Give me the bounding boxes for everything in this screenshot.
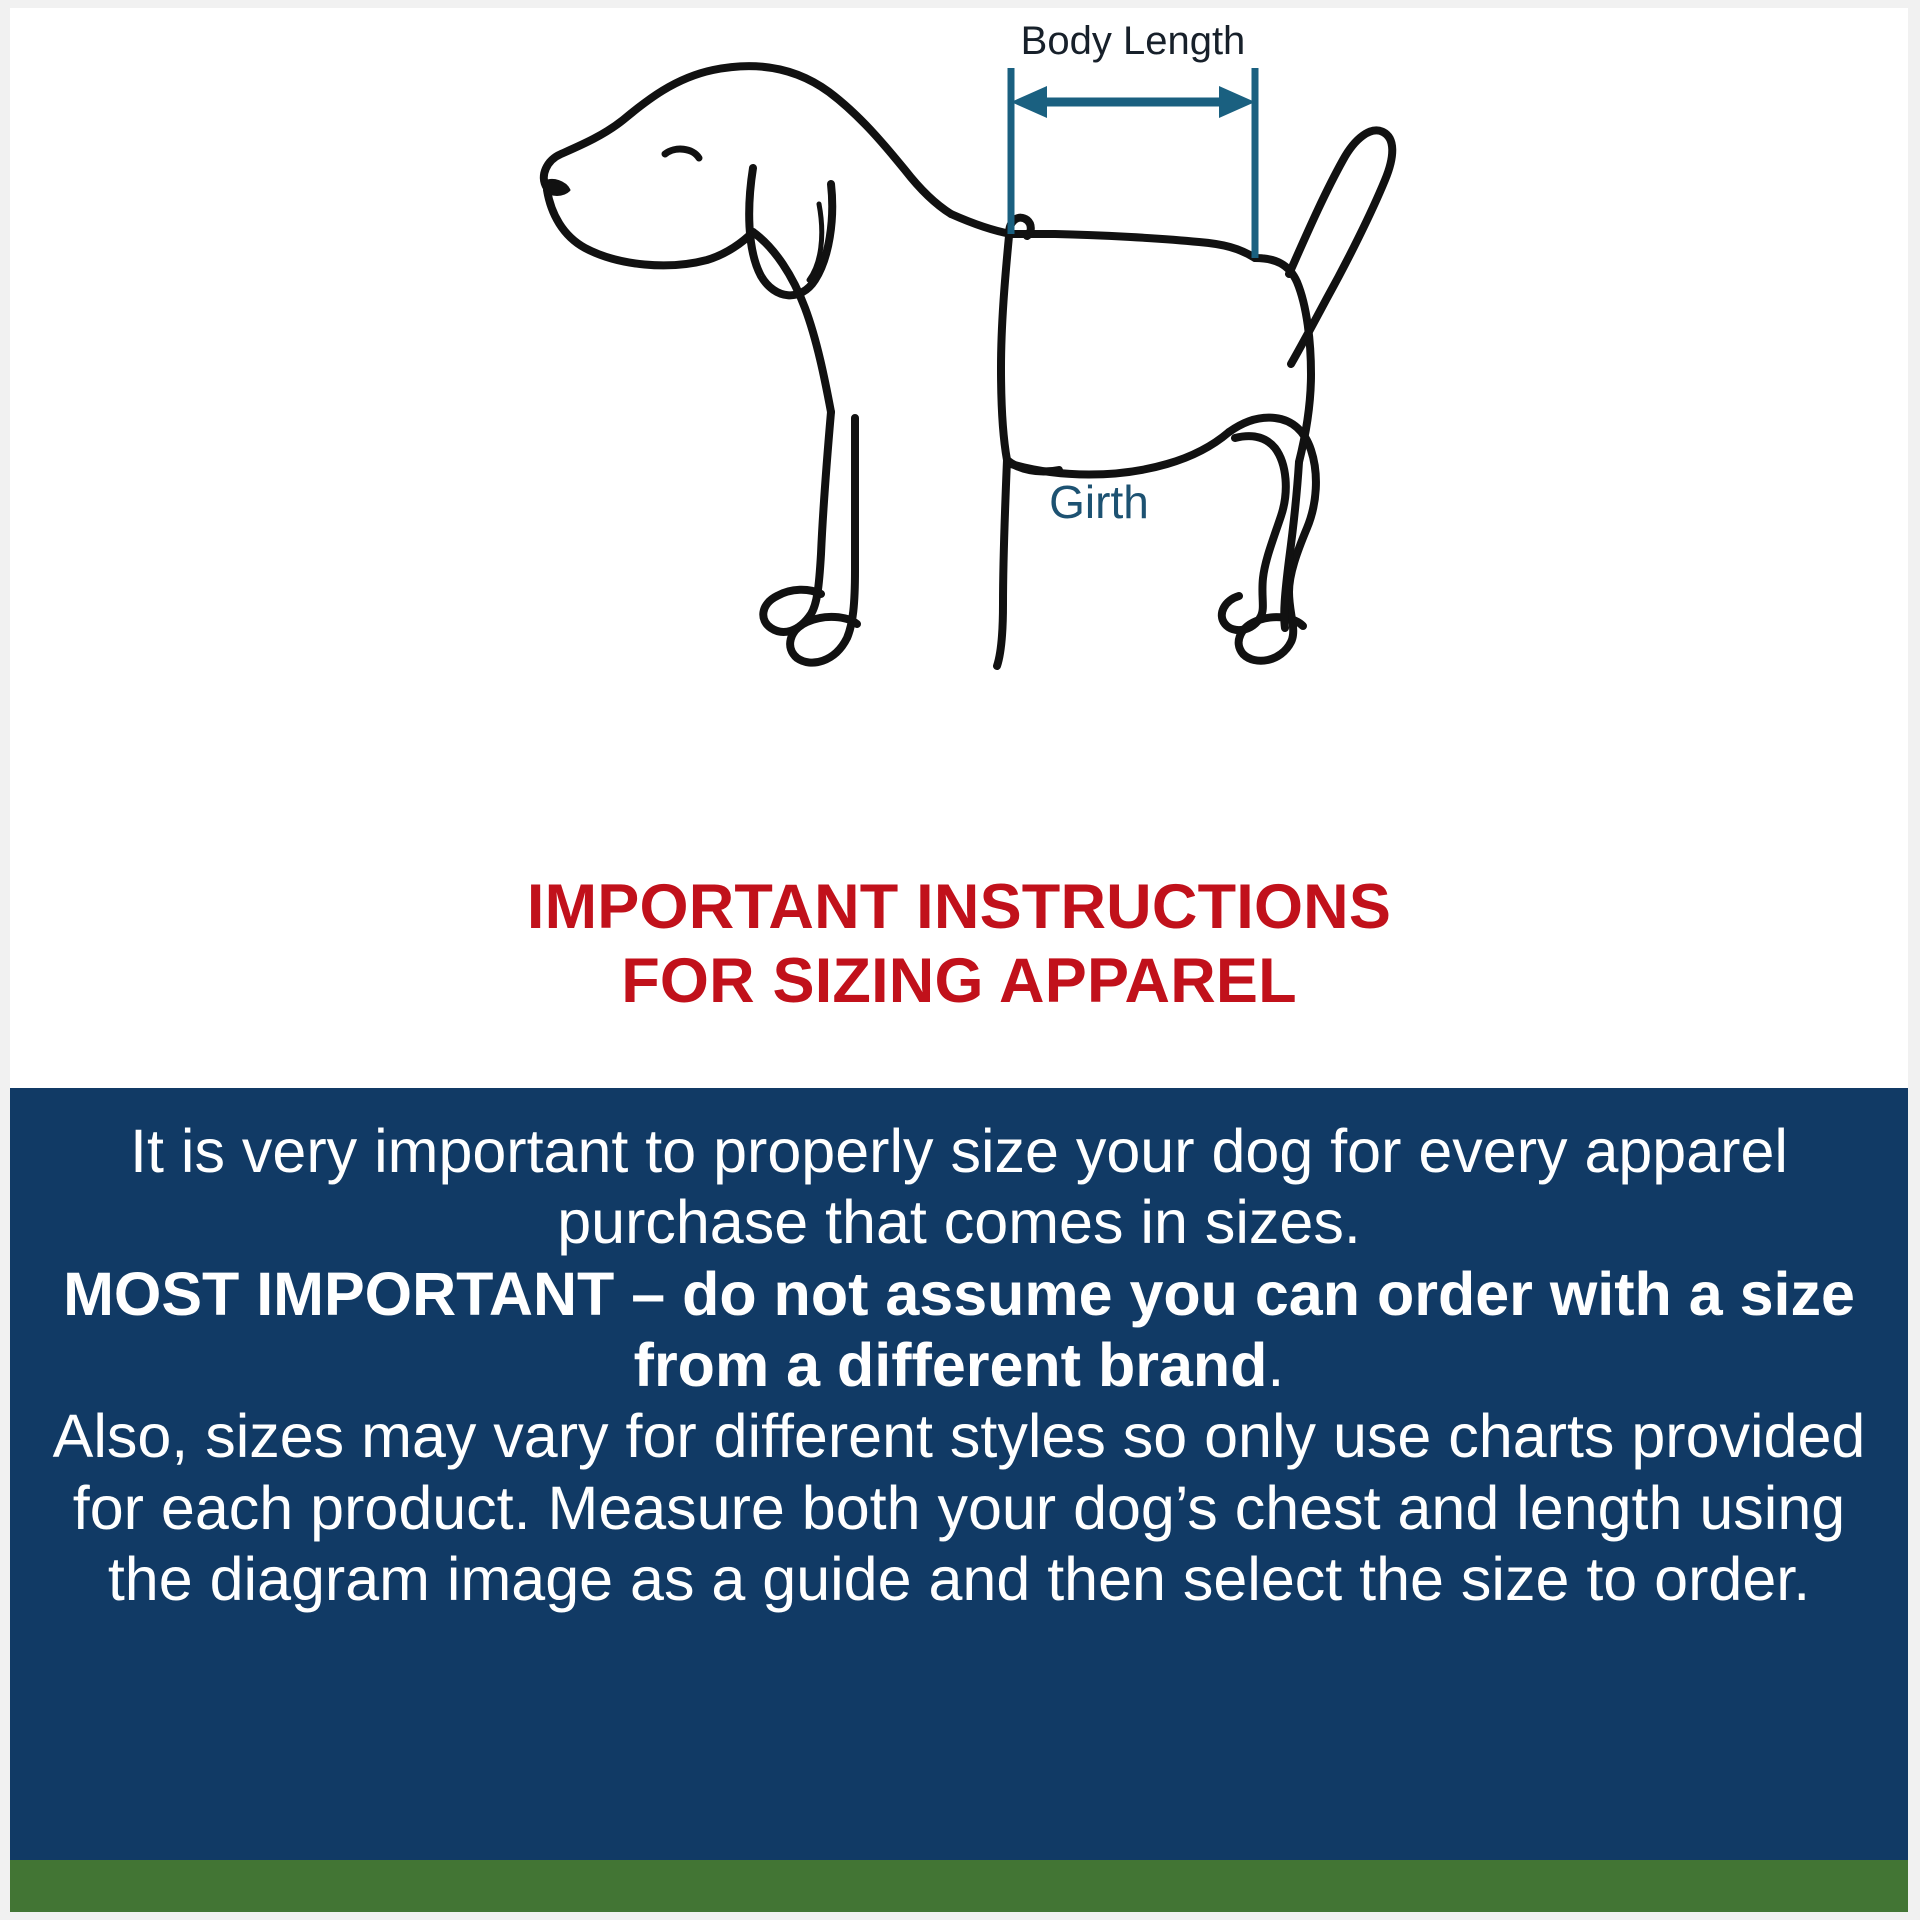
instructions-paragraph-2-bold: MOST IMPORTANT – do not assume you can o… (63, 1260, 1855, 1399)
instructions-paragraph-2: MOST IMPORTANT – do not assume you can o… (40, 1259, 1878, 1402)
dog-outline-group (544, 66, 1392, 666)
dog-nose (545, 180, 569, 194)
sizing-instructions-page: Body Length Girth Side-view line drawing… (0, 0, 1920, 1920)
dog-front-leg-near (763, 412, 831, 632)
dog-jaw-outline (547, 190, 753, 265)
dog-girth-band-front (1001, 236, 1009, 460)
dog-belly-line (1011, 432, 1229, 475)
instructions-paragraph-3: Also, sizes may vary for different style… (40, 1401, 1878, 1615)
footer-accent-bar (10, 1860, 1908, 1912)
instructions-paragraph-1: It is very important to properly size yo… (40, 1116, 1878, 1259)
page-title: IMPORTANT INSTRUCTIONS FOR SIZING APPARE… (10, 870, 1908, 1019)
body-length-arrow (1011, 86, 1255, 118)
page-title-line-2: FOR SIZING APPAREL (10, 944, 1908, 1018)
instructions-panel: It is very important to properly size yo… (10, 1088, 1908, 1860)
dog-hind-leg-near-inner (1222, 436, 1286, 630)
content-card: Body Length Girth Side-view line drawing… (10, 8, 1908, 1912)
body-length-label: Body Length (1021, 19, 1246, 63)
dog-back-line (951, 214, 1255, 258)
page-title-line-1: IMPORTANT INSTRUCTIONS (10, 870, 1908, 944)
dog-front-leg-far (997, 460, 1007, 666)
dog-eye (665, 149, 699, 158)
girth-label: Girth (1049, 476, 1149, 528)
diagram-alt-text: Side-view line drawing of a dog showing … (10, 8, 11, 9)
instructions-paragraph-2-tail: . (1267, 1331, 1284, 1399)
dog-measurement-diagram: Body Length Girth Side-view line drawing… (10, 8, 1908, 868)
dog-diagram-svg: Body Length Girth (499, 8, 1419, 708)
body-length-measurement: Body Length (1011, 19, 1255, 258)
